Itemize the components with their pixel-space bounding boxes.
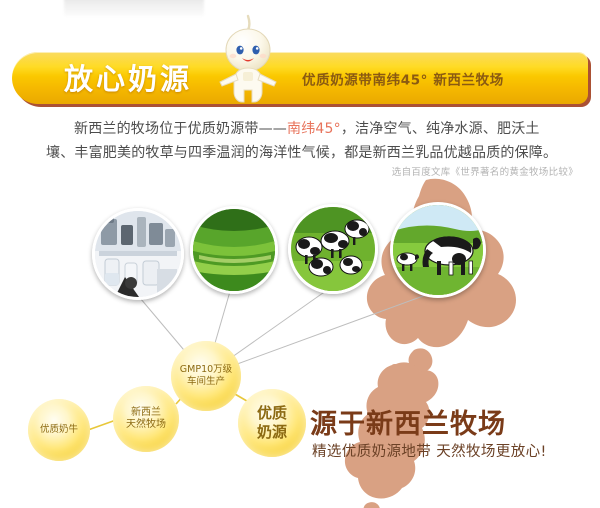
page-root: 放心奶源 优质奶源带南纬45° 新西兰牧场 新西兰的牧场位于优质奶源带——南纬4… xyxy=(0,0,600,508)
bubble-milk-source-line2: 奶源 xyxy=(257,423,287,442)
cow-herd-photo xyxy=(288,204,378,294)
bubble-gmp-plant-line1: GMP10万级 xyxy=(180,364,232,376)
bubble-quality-cow[interactable]: 优质奶牛 xyxy=(28,399,90,461)
lab-equipment-photo xyxy=(92,208,184,300)
green-pasture-photo xyxy=(190,206,278,294)
bubble-nz-farm-line2: 天然牧场 xyxy=(126,419,166,432)
bubble-gmp-plant-line2: 车间生产 xyxy=(180,376,232,388)
grazing-cow-photo xyxy=(390,202,486,298)
headline-title: 源于新西兰牧场 xyxy=(310,402,506,441)
bubble-quality-cow-line1: 优质奶牛 xyxy=(40,424,78,436)
bubble-nz-farm-line1: 新西兰 xyxy=(126,407,166,420)
bubble-milk-source-line1: 优质 xyxy=(257,404,287,423)
mascot-character xyxy=(216,14,280,106)
bubble-quality-milk-source[interactable]: 优质 奶源 xyxy=(238,389,306,457)
headline-subtitle: 精选优质奶源地带 天然牧场更放心! xyxy=(312,440,547,461)
bubble-gmp-plant[interactable]: GMP10万级 车间生产 xyxy=(171,341,241,411)
bubble-nz-farm[interactable]: 新西兰 天然牧场 xyxy=(113,386,179,452)
